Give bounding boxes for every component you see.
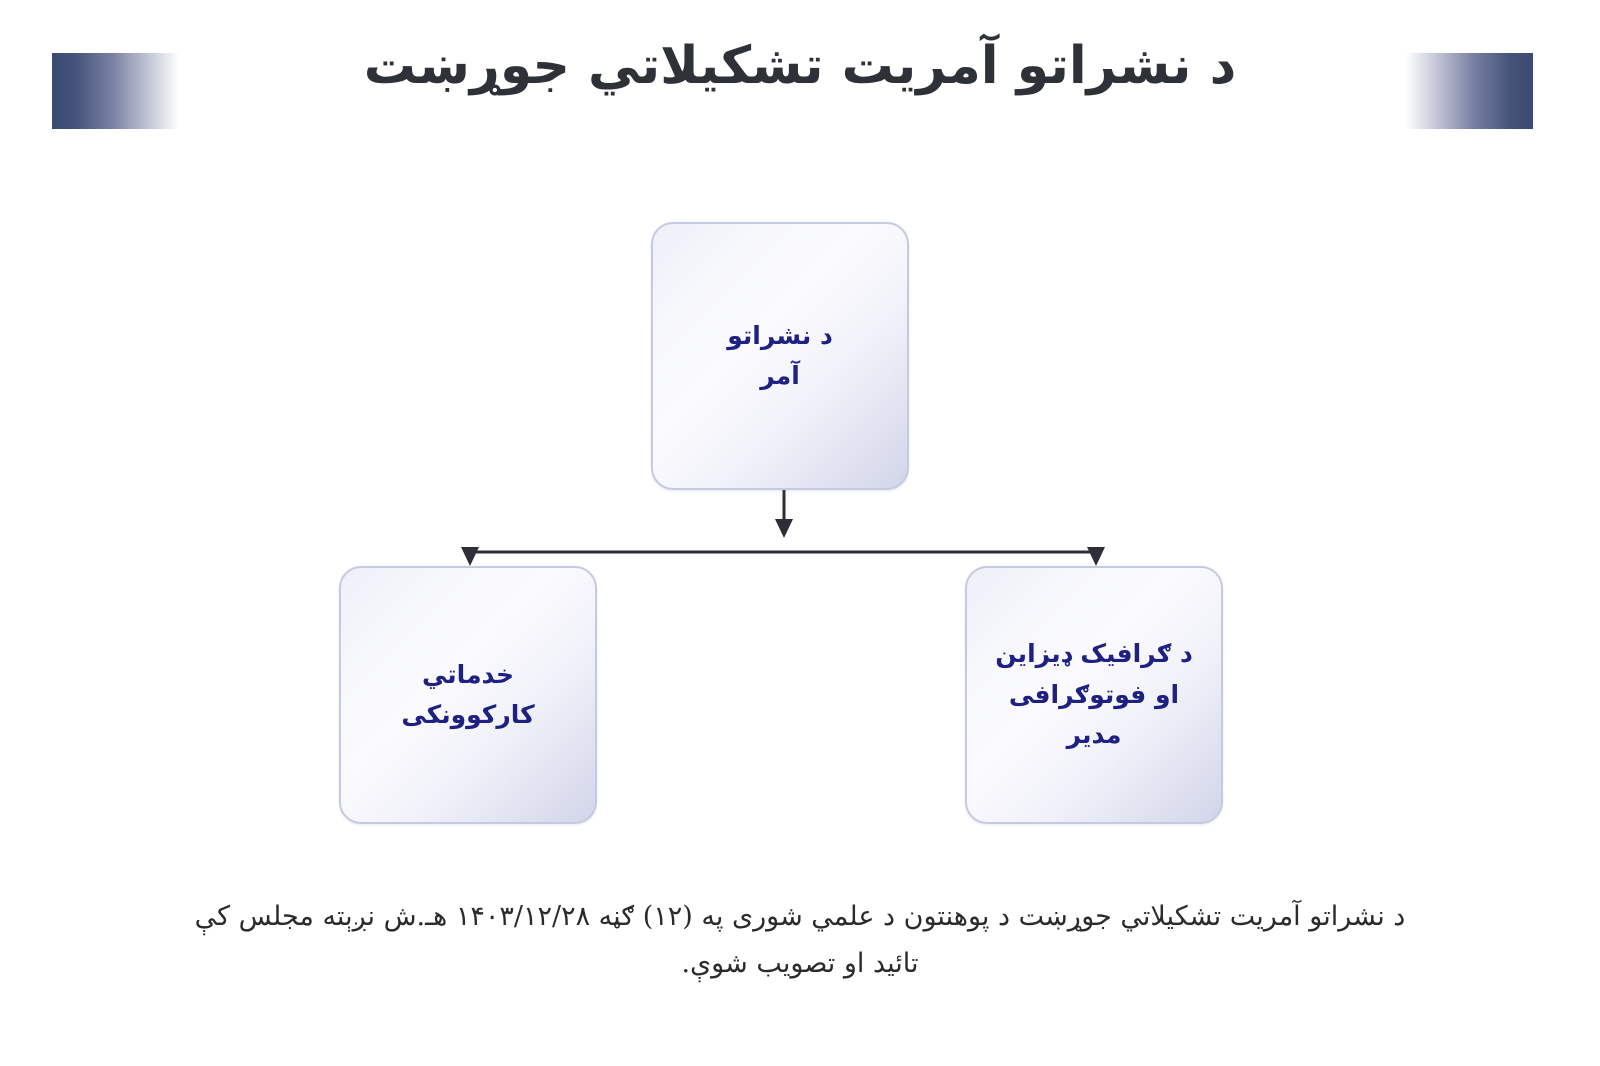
arrowhead-right-branch bbox=[1087, 547, 1105, 566]
page-title: د نشراتو آمریت تشکیلاتي جوړښت bbox=[200, 34, 1400, 99]
org-node-root-label: د نشراتو آمر bbox=[713, 316, 847, 397]
org-node-service-staff[interactable]: خدماتي کارکوونکی bbox=[339, 566, 597, 824]
header-gradient-bar-right bbox=[1406, 53, 1533, 129]
slide-canvas: د نشراتو آمریت تشکیلاتي جوړښت د نشراتو آ… bbox=[0, 0, 1600, 1066]
org-node-graphic-design[interactable]: د ګرافیک ډیزاین او فوتوګرافی مدیر bbox=[965, 566, 1223, 824]
org-node-graphic-design-label: د ګرافیک ډیزاین او فوتوګرافی مدیر bbox=[967, 634, 1221, 756]
org-node-service-staff-label: خدماتي کارکوونکی bbox=[387, 655, 548, 736]
footer-note-line-2: تائید او تصویب شوې. bbox=[100, 940, 1500, 987]
arrowhead-root-stub bbox=[775, 519, 793, 538]
footer-note-line-1: د نشراتو آمریت تشکیلاتي جوړښت د پوهنتون … bbox=[100, 893, 1500, 940]
footer-note: د نشراتو آمریت تشکیلاتي جوړښت د پوهنتون … bbox=[100, 893, 1500, 988]
arrowhead-left-branch bbox=[461, 547, 479, 566]
org-node-root[interactable]: د نشراتو آمر bbox=[651, 222, 909, 490]
header-gradient-bar-left bbox=[52, 53, 179, 129]
